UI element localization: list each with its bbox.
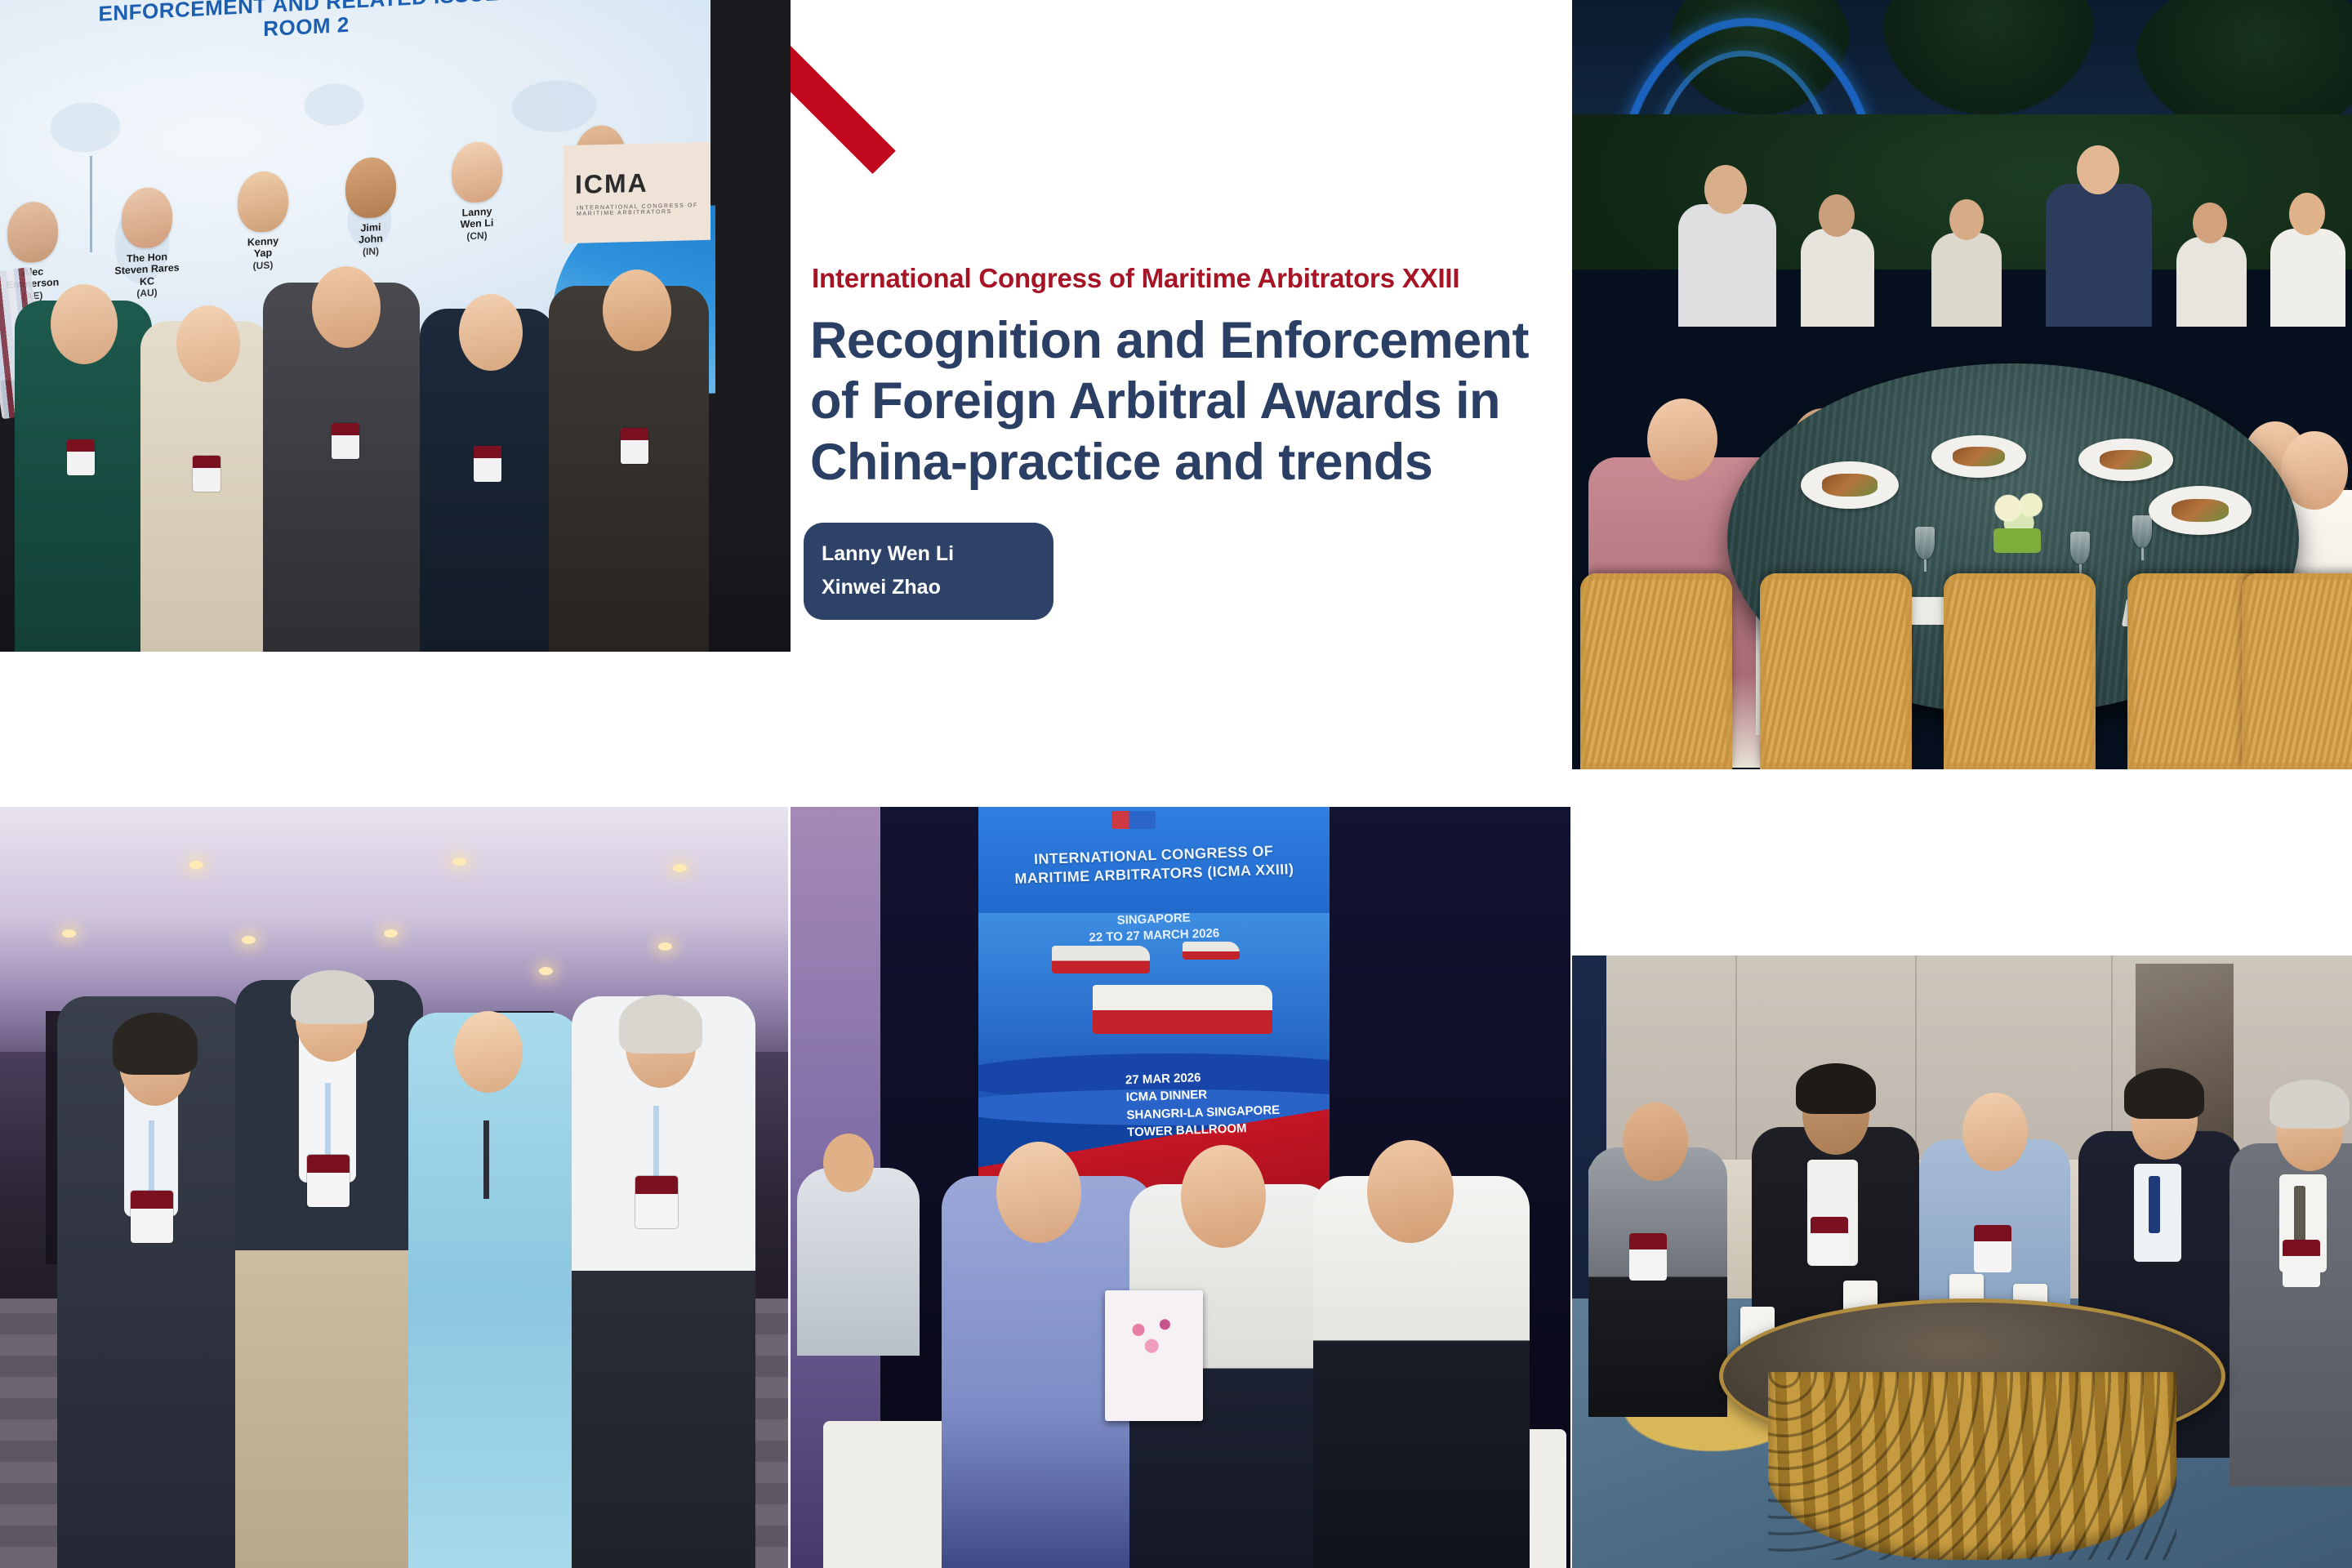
person-badge: [307, 1155, 350, 1207]
collage-canvas: CONCURRENT SESSION ENFORCEMENT AND RELAT…: [0, 0, 2352, 1568]
person-hair: [619, 995, 702, 1053]
ceiling-light: [62, 929, 76, 938]
bg-guest: [1678, 204, 1776, 327]
guest-head: [1647, 399, 1717, 480]
bg-guest: [2176, 237, 2247, 327]
icma-logo-board: ICMA INTERNATIONAL CONGRESS OF MARITIME …: [563, 142, 710, 243]
photo-dinner-panel: [1572, 0, 2352, 769]
bg-guest: [2270, 229, 2345, 327]
rattan-chair: [2242, 573, 2352, 769]
bg-guest-head: [2077, 145, 2119, 194]
person-badge: [2283, 1240, 2320, 1287]
photo-lounge-panel: [1572, 955, 2352, 1568]
person-head: [996, 1142, 1081, 1243]
icma-logo-text: ICMA: [575, 168, 648, 200]
person-hair: [2124, 1068, 2204, 1119]
conference-brochure: [1105, 1290, 1203, 1421]
board-event-block: 27 MAR 2026 ICMA DINNER SHANGRI-LA SINGA…: [1125, 1065, 1327, 1142]
person-head: [459, 294, 523, 371]
person-badge: [67, 439, 95, 475]
photo-session-panel: CONCURRENT SESSION ENFORCEMENT AND RELAT…: [0, 0, 791, 652]
bg-guest-head: [1949, 199, 1984, 240]
plated-food: [1822, 474, 1877, 497]
person-badge: [1629, 1233, 1667, 1281]
person-strap: [483, 1120, 489, 1199]
person-badge: [332, 423, 359, 459]
panelist-item: The Hon Steven Rares KC (AU): [98, 185, 196, 301]
palm-tree: [1882, 0, 2095, 114]
person-hair: [113, 1013, 198, 1075]
person-lanyard: [149, 1120, 154, 1199]
plated-food: [2100, 450, 2153, 470]
wine-glass: [2132, 515, 2152, 548]
ceiling-light: [539, 967, 553, 975]
person-badge: [193, 456, 220, 492]
ceiling-light: [673, 864, 687, 872]
slide-title-line-1: Recognition and Enforcement: [810, 310, 1572, 371]
session-group-people: [0, 309, 791, 652]
table-gold-base: [1768, 1372, 2176, 1560]
rattan-chair: [1760, 573, 1912, 769]
panelist-avatar: [345, 156, 396, 219]
plated-food: [2172, 499, 2229, 523]
person-head: [454, 1011, 523, 1093]
person-badge: [1811, 1217, 1848, 1264]
slide-title-line-3: China-practice and trends: [810, 432, 1572, 492]
wine-glass: [2070, 532, 2090, 564]
bg-person-head: [823, 1134, 874, 1192]
person-head: [1623, 1102, 1688, 1181]
person-figure: [408, 1013, 580, 1568]
bg-guest: [2046, 184, 2152, 327]
panelist-item: Kenny Yap (US): [214, 169, 312, 274]
author-name-2: Xinwei Zhao: [822, 571, 1036, 604]
person-head: [603, 269, 671, 351]
background-guests: [1572, 176, 2352, 327]
person-badge: [131, 1191, 173, 1243]
author-name-1: Lanny Wen Li: [822, 537, 1036, 571]
dinner-plate: [1801, 461, 1899, 509]
person-tie: [2149, 1176, 2160, 1233]
ship-graphic: [1183, 942, 1240, 960]
person-lanyard: [653, 1106, 659, 1184]
slide-canvas: International Congress of Maritime Arbit…: [791, 0, 1572, 777]
panelist-avatar: [7, 201, 58, 264]
board-title: INTERNATIONAL CONGRESS OF MARITIME ARBIT…: [978, 840, 1330, 890]
bg-person-figure: [797, 1168, 920, 1356]
photo-screen-panel: INTERNATIONAL CONGRESS OF MARITIME ARBIT…: [791, 807, 1570, 1568]
person-head: [1181, 1145, 1266, 1248]
person-head: [176, 305, 240, 382]
dinner-plate: [2078, 439, 2173, 481]
person-hair: [2270, 1080, 2350, 1129]
slide-authors-badge: Lanny Wen Li Xinwei Zhao: [804, 523, 1053, 620]
wine-glass: [1915, 527, 1935, 559]
rattan-chair: [1944, 573, 2096, 769]
panelist-item: Lanny Wen Li (CN): [428, 140, 526, 244]
person-head: [312, 266, 381, 348]
ship-graphic: [1052, 946, 1150, 973]
person-head: [51, 284, 118, 364]
panelist-avatar: [122, 186, 172, 249]
bg-guest-head: [1819, 194, 1855, 237]
person-hair: [291, 970, 374, 1024]
person-badge: [635, 1176, 678, 1228]
ceiling-light: [452, 857, 466, 866]
rattan-chair: [1580, 573, 1732, 769]
person-figure: [1588, 1147, 1727, 1417]
person-hair: [1796, 1063, 1876, 1114]
corner-stripe-red-top: [791, 7, 896, 174]
person-badge: [621, 428, 648, 464]
ceiling-light: [242, 936, 256, 944]
person-badge: [474, 446, 501, 482]
ceiling-light: [384, 929, 398, 938]
dinner-plate: [2149, 486, 2252, 535]
bg-guest: [1801, 229, 1874, 327]
person-head: [1962, 1093, 2028, 1171]
slide-eyebrow-text: International Congress of Maritime Arbit…: [812, 263, 1572, 294]
ceiling-light: [658, 942, 672, 951]
person-head: [1367, 1140, 1454, 1243]
slide-title-line-2: of Foreign Arbitral Awards in: [810, 371, 1572, 431]
flower-centerpiece: [1972, 486, 2062, 550]
panelist-item: Jimi John (IN): [322, 155, 420, 260]
panelist-avatar: [238, 170, 288, 233]
ceiling-light: [189, 861, 203, 869]
person-tie: [2294, 1186, 2305, 1243]
glass-coffee-table: [1719, 1298, 2225, 1568]
icma-board-logo: [1111, 811, 1156, 829]
person-lanyard: [325, 1083, 331, 1161]
presentation-slide-panel: International Congress of Maritime Arbit…: [791, 0, 1572, 777]
slide-title: Recognition and Enforcement of Foreign A…: [810, 310, 1572, 492]
bg-guest-head: [2289, 193, 2325, 235]
icma-logo-subtext: INTERNATIONAL CONGRESS OF MARITIME ARBIT…: [577, 203, 710, 217]
plated-food: [1953, 447, 2006, 467]
person-badge: [1974, 1225, 2011, 1272]
bg-guest-head: [2193, 203, 2227, 243]
bg-guest-head: [1704, 165, 1747, 214]
ship-graphic: [1093, 985, 1272, 1034]
bg-guest: [1931, 233, 2002, 327]
panelist-avatar: [452, 140, 502, 203]
photo-foyer-panel: [0, 807, 788, 1568]
dinner-plate: [1931, 435, 2026, 478]
